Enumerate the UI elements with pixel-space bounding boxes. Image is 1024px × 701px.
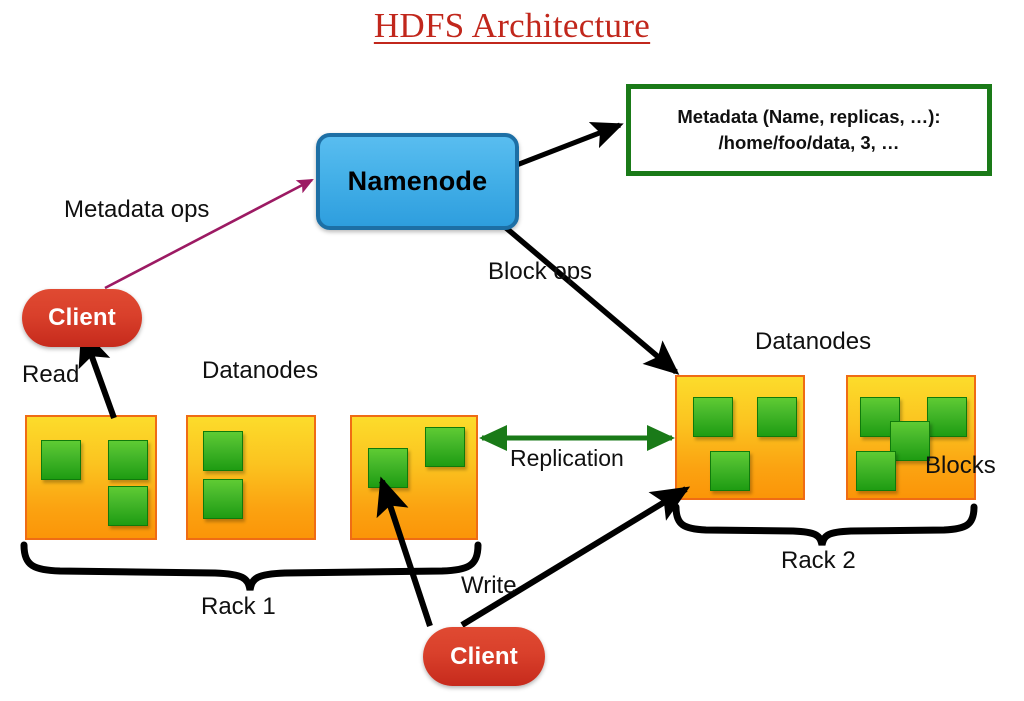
label-read: Read	[22, 361, 79, 389]
label-blocks: Blocks	[925, 452, 996, 480]
label-write: Write	[461, 572, 517, 600]
label-replication: Replication	[510, 445, 624, 472]
hdfs-architecture-diagram: HDFS Architecture	[0, 0, 1024, 701]
client-bottom-label: Client	[450, 643, 518, 671]
label-block-ops: Block ops	[488, 258, 592, 286]
client-top-label: Client	[48, 304, 116, 332]
brace-rack2	[676, 507, 974, 545]
metadata-box: Metadata (Name, replicas, …): /home/foo/…	[626, 84, 992, 176]
label-metadata-ops: Metadata ops	[64, 196, 209, 224]
client-node-top[interactable]: Client	[22, 289, 142, 347]
namenode-label: Namenode	[348, 166, 488, 197]
label-datanodes-rack2: Datanodes	[755, 328, 871, 356]
metadata-line-2: /home/foo/data, 3, …	[719, 130, 900, 156]
label-rack1: Rack 1	[201, 593, 276, 621]
page-title: HDFS Architecture	[0, 6, 1024, 46]
brace-rack1	[24, 545, 478, 590]
label-datanodes-rack1: Datanodes	[202, 357, 318, 385]
label-rack2: Rack 2	[781, 547, 856, 575]
client-node-bottom[interactable]: Client	[423, 627, 545, 686]
metadata-line-1: Metadata (Name, replicas, …):	[677, 104, 940, 130]
namenode-box[interactable]: Namenode	[316, 133, 519, 230]
